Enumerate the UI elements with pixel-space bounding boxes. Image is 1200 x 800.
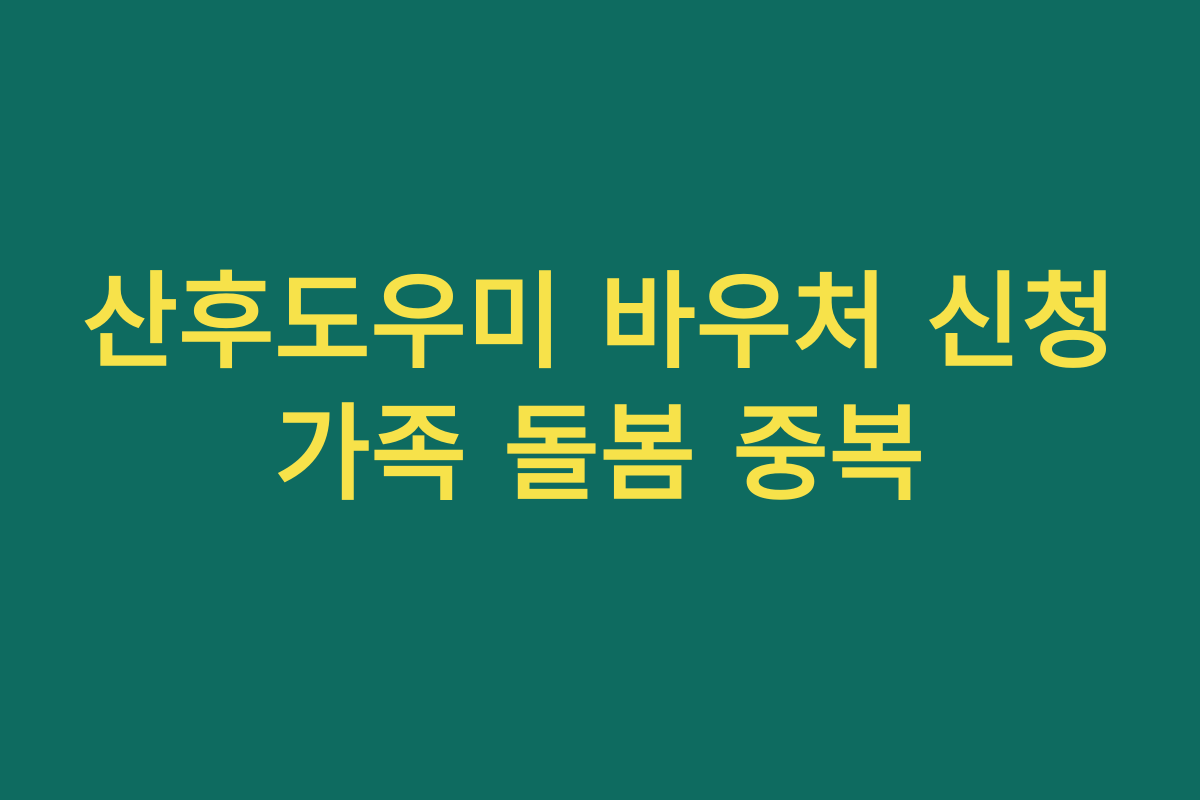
headline-line-2: 가족 돌봄 중복 (0, 388, 1200, 520)
headline-line-1: 산후도우미 바우처 신청 (0, 256, 1200, 388)
headline-block: 산후도우미 바우처 신청 가족 돌봄 중복 (0, 256, 1200, 520)
banner-canvas: 산후도우미 바우처 신청 가족 돌봄 중복 (0, 0, 1200, 800)
